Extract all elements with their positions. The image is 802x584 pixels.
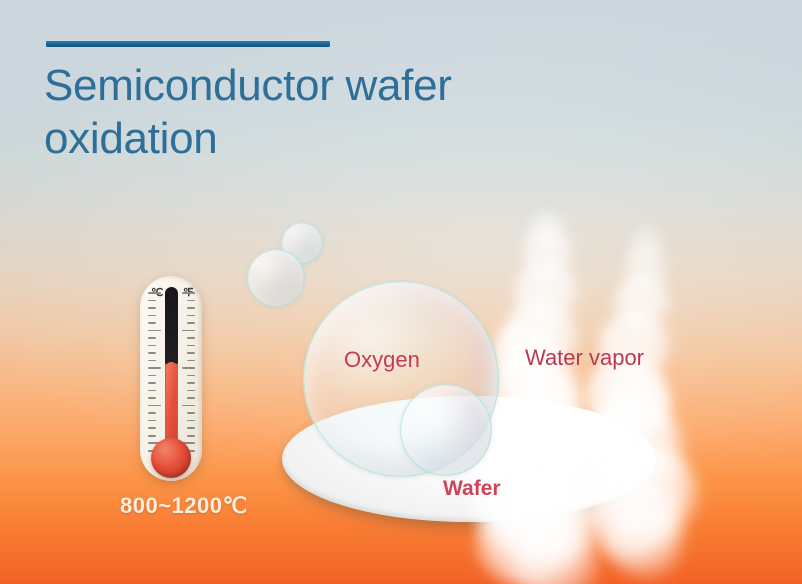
page-title: Semiconductor wafer oxidation (44, 60, 564, 166)
thermometer-tick (148, 412, 156, 414)
thermometer-tick (182, 405, 195, 407)
thermometer-tick (148, 292, 161, 294)
thermometer-tick (187, 427, 195, 429)
bubble-icon-small-left (247, 249, 305, 307)
thermometer-tick (148, 382, 156, 384)
thermometer-tick (148, 345, 156, 347)
thermometer-tick (187, 337, 195, 339)
thermometer-scale-fahrenheit (181, 292, 195, 450)
thermometer-tick (148, 307, 156, 309)
thermometer-tick (187, 382, 195, 384)
thermometer-tick (187, 360, 195, 362)
thermometer-scale-celsius (148, 292, 162, 450)
thermometer-tick (148, 360, 156, 362)
thermometer-tick (187, 352, 195, 354)
thermometer-tick (148, 337, 156, 339)
thermometer-tick (148, 420, 156, 422)
thermometer-tick (187, 322, 195, 324)
thermometer-tick (148, 330, 161, 332)
thermometer-tick (148, 375, 156, 377)
label-oxygen: Oxygen (344, 347, 420, 373)
thermometer-tick (187, 300, 195, 302)
thermometer-tick (182, 292, 195, 294)
thermometer-tick (148, 367, 161, 369)
thermometer-tick (148, 315, 156, 317)
thermometer-bulb (151, 438, 191, 478)
slide-canvas: Semiconductor wafer oxidation ℃ ℉ Oxygen… (0, 0, 802, 584)
thermometer-tick (148, 322, 156, 324)
thermometer-tick (148, 427, 156, 429)
label-temperature-range: 800~1200℃ (120, 493, 248, 519)
bubble-icon-medium-lower (400, 384, 492, 476)
label-water-vapor: Water vapor (525, 345, 644, 371)
title-rule (46, 41, 330, 47)
thermometer-tick (187, 390, 195, 392)
thermometer-tick (148, 405, 161, 407)
thermometer-tick (182, 367, 195, 369)
thermometer-tick (187, 435, 195, 437)
thermometer-tick (187, 420, 195, 422)
thermometer-tick (148, 397, 156, 399)
thermometer-tick (148, 390, 156, 392)
thermometer-tick (187, 375, 195, 377)
thermometer-tick (148, 435, 156, 437)
thermometer-tick (187, 412, 195, 414)
thermometer-tick (187, 397, 195, 399)
thermometer-tick (182, 330, 195, 332)
label-wafer: Wafer (443, 477, 501, 501)
thermometer-tick (187, 315, 195, 317)
thermometer-tick (148, 300, 156, 302)
thermometer-tick (187, 307, 195, 309)
thermometer-tick (187, 345, 195, 347)
thermometer-tick (148, 352, 156, 354)
